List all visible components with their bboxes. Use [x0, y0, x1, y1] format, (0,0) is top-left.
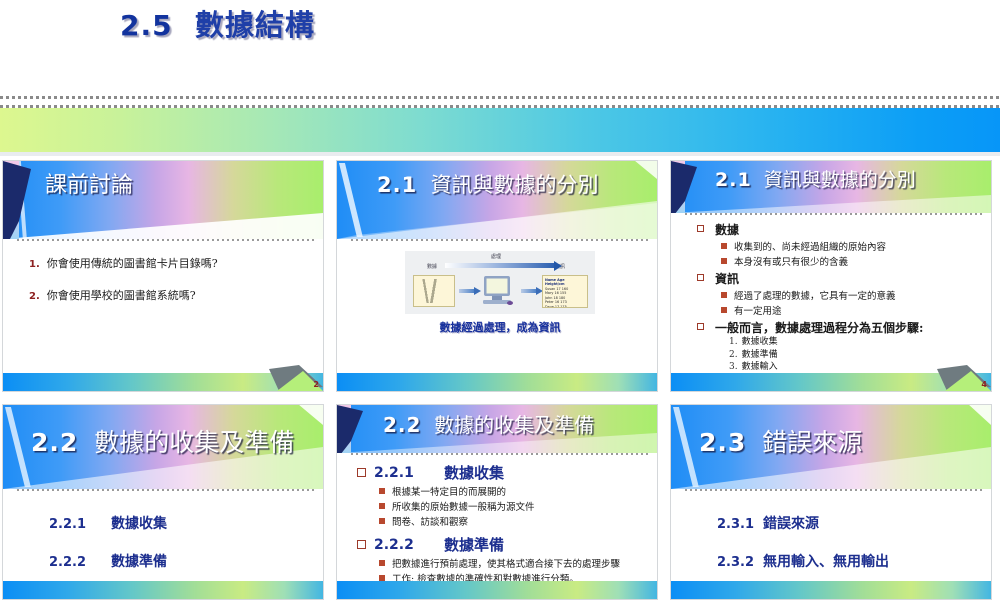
- slide-grid: 課前討論 1.你會使用傳統的圖書館卡片目錄嗎? 2.你會使用學校的圖書館系統嗎?: [0, 160, 1000, 600]
- slide-6-title-text: 錯誤來源: [762, 428, 862, 457]
- slide-thumbnail-1[interactable]: 課前討論 1.你會使用傳統的圖書館卡片目錄嗎? 2.你會使用學校的圖書館系統嗎?: [2, 160, 324, 392]
- slide-3-title-number: 2.1: [715, 169, 752, 191]
- outline-level1-item: 一般而言，數據處理過程分為五個步驟:: [697, 319, 983, 336]
- section-label: 數據收集: [444, 462, 504, 483]
- slide-4-title: 2.2 數據的收集及準備: [31, 423, 294, 459]
- slide-5-body: 2.2.1 數據收集 根據某一特定目的而展開的 所收集的原始數據一般稱为源文件 …: [337, 453, 657, 581]
- list-item: 2.你會使用學校的圖書館系統嗎?: [29, 287, 315, 303]
- discussion-question-list: 1.你會使用傳統的圖書館卡片目錄嗎? 2.你會使用學校的圖書館系統嗎?: [29, 255, 315, 303]
- diagram-result-table: Name Age Height/cm Susan 17 160 Mary 16 …: [542, 275, 588, 308]
- outline-level2-label: 本身沒有或只有很少的含義: [734, 254, 848, 268]
- slide-3-title-text: 資訊與數據的分別: [764, 169, 916, 191]
- slide-6-title-number: 2.3: [699, 428, 746, 457]
- steps-heading-label: 一般而言，數據處理過程分為五個步驟:: [715, 319, 923, 336]
- square-filled-bullet-icon: [721, 292, 727, 298]
- slide-5-title: 2.2 數據的收集及準備: [383, 409, 594, 438]
- slide-3-title: 2.1 資訊與數據的分別: [715, 165, 916, 192]
- outline-level2-item: 經過了處理的數據，它具有一定的意義: [721, 288, 983, 302]
- slide-4-body: 2.2.1 數據收集 2.2.2 數據準備: [3, 489, 323, 581]
- slide-6-header: 2.3 錯誤來源: [671, 405, 991, 489]
- square-outline-bullet-icon: [697, 225, 704, 232]
- square-filled-bullet-icon: [379, 503, 385, 509]
- step-label: 數據輸入: [742, 362, 778, 372]
- section-label: 錯誤來源: [763, 513, 819, 533]
- slide-5-header: 2.2 數據的收集及準備: [337, 405, 657, 453]
- step-marker: 3.: [729, 362, 738, 372]
- square-filled-bullet-icon: [379, 518, 385, 524]
- numbered-step: 1.數據收集: [729, 336, 983, 349]
- corner-triangle-icon: [671, 161, 697, 213]
- slide-overview-page: 2.5 數據結構 課前討論: [0, 0, 1000, 600]
- slide-2-divider: [351, 239, 651, 241]
- square-outline-bullet-icon: [697, 323, 704, 330]
- outline-level2-item: 問卷、訪談和觀察: [379, 514, 649, 528]
- section-row: 2.3.1 錯誤來源: [717, 513, 983, 533]
- section-number: 2.2.1: [374, 465, 444, 481]
- step-marker: 2.: [729, 350, 738, 360]
- slide-3-page-number: 4: [981, 379, 987, 391]
- diagram-arrow-out-icon: [521, 289, 537, 293]
- slide-5-footer: [337, 581, 657, 599]
- slide-3-divider: [685, 213, 985, 215]
- section-label: 數據收集: [111, 513, 167, 533]
- square-filled-bullet-icon: [721, 258, 727, 264]
- page-title-number: 2.5: [120, 9, 173, 42]
- diagram-caption: 數據經過處理，成為資訊: [405, 319, 595, 335]
- list-item-marker: 1.: [29, 259, 40, 270]
- slide-6-body: 2.3.1 錯誤來源 2.3.2 無用輸入、無用輸出: [671, 489, 991, 581]
- section-number: 2.3.2: [717, 555, 763, 570]
- scribble-marks: [417, 279, 451, 303]
- corner-triangle-icon: [3, 161, 31, 239]
- diagram-arrow-in-icon: [459, 289, 475, 293]
- square-filled-bullet-icon: [379, 488, 385, 494]
- slide-1-body: 1.你會使用傳統的圖書館卡片目錄嗎? 2.你會使用學校的圖書館系統嗎?: [3, 239, 323, 373]
- outline-level2-item: 把數據進行預前處理，使其格式適合接下去的處理步驟: [379, 556, 649, 570]
- section-label: 無用輸入、無用輸出: [763, 551, 889, 571]
- square-filled-bullet-icon: [379, 560, 385, 566]
- slide-4-header: 2.2 數據的收集及準備: [3, 405, 323, 489]
- slide-1-title: 課前討論: [45, 167, 133, 199]
- list-item-label: 你會使用學校的圖書館系統嗎?: [47, 289, 196, 302]
- square-filled-bullet-icon: [721, 307, 727, 313]
- outline-level2-label: 收集到的、尚未經過組織的原始內容: [734, 239, 886, 253]
- section-heading-row: 2.2.1 數據收集: [357, 462, 649, 483]
- list-item: 1.你會使用傳統的圖書館卡片目錄嗎?: [29, 255, 315, 271]
- outline-level2-label: 把數據進行預前處理，使其格式適合接下去的處理步驟: [392, 556, 620, 570]
- slide-thumbnail-2[interactable]: 2.1 資訊與數據的分別 數據 處理 資訊: [336, 160, 658, 392]
- outline-level2-item: 所收集的原始數據一般稱为源文件: [379, 499, 649, 513]
- slide-3-body: 數據 收集到的、尚未經過組織的原始內容 本身沒有或只有很少的含義 資訊 經過了處…: [671, 213, 991, 373]
- square-outline-bullet-icon: [357, 468, 366, 477]
- slide-5-title-text: 數據的收集及準備: [434, 413, 594, 437]
- slide-thumbnail-4[interactable]: 2.2 數據的收集及準備 2.2.1 數據收集 2.2.2 數據準備: [2, 404, 324, 600]
- band-base-strip: [0, 152, 1000, 156]
- slide-6-divider: [685, 489, 985, 491]
- square-outline-bullet-icon: [357, 540, 366, 549]
- outline-level1-label: 資訊: [715, 270, 739, 287]
- slide-1-header: 課前討論: [3, 161, 323, 239]
- slide-4-title-number: 2.2: [31, 428, 78, 457]
- slide-5-title-number: 2.2: [383, 413, 421, 437]
- outline-level2-label: 所收集的原始數據一般稱为源文件: [392, 499, 535, 513]
- outline-level2-item: 根據某一特定目的而展開的: [379, 484, 649, 498]
- outline-level1-label: 數據: [715, 221, 739, 238]
- diagram-process-arrow-icon: [445, 263, 555, 268]
- slide-4-footer: [3, 581, 323, 599]
- page-title: 2.5 數據結構: [120, 2, 315, 44]
- outline-level2-item: 本身沒有或只有很少的含義: [721, 254, 983, 268]
- slide-3-header: 2.1 資訊與數據的分別: [671, 161, 991, 213]
- outline-level2-label: 根據某一特定目的而展開的: [392, 484, 506, 498]
- corner-triangle-icon: [337, 405, 363, 453]
- band-dotted-border-top: [0, 96, 1000, 99]
- outline-level2-item: 有一定用途: [721, 303, 983, 317]
- section-label: 數據準備: [111, 551, 167, 571]
- section-row: 2.2.2 數據準備: [49, 551, 315, 571]
- slide-1-divider: [17, 239, 317, 241]
- slide-thumbnail-3[interactable]: 2.1 資訊與數據的分別 數據 收集到的、尚未經過組織的原始內容 本身沒有或只有…: [670, 160, 992, 392]
- table-header-row: Name Age Height/cm: [545, 278, 565, 287]
- slide-2-title-text: 資訊與數據的分別: [431, 173, 599, 197]
- list-item-label: 你會使用傳統的圖書館卡片目錄嗎?: [47, 257, 218, 270]
- outline-level2-label: 經過了處理的數據，它具有一定的意義: [734, 288, 896, 302]
- square-outline-bullet-icon: [697, 274, 704, 281]
- slide-thumbnail-5[interactable]: 2.2 數據的收集及準備 2.2.1 數據收集 根據某一特定目的而展開的 所收集…: [336, 404, 658, 600]
- slide-6-title: 2.3 錯誤來源: [699, 423, 862, 459]
- page-title-text: 數據結構: [195, 8, 315, 42]
- diagram-canvas: 數據 處理 資訊: [405, 251, 595, 314]
- slide-4-divider: [17, 489, 317, 491]
- slide-4-title-text: 數據的收集及準備: [94, 428, 294, 457]
- diagram-label-process: 處理: [491, 253, 501, 260]
- slide-6-footer: [671, 581, 991, 599]
- diagram-label-input: 數據: [427, 263, 437, 270]
- slide-thumbnail-6[interactable]: 2.3 錯誤來源 2.3.1 錯誤來源 2.3.2 無用輸入、無用輸出: [670, 404, 992, 600]
- outline-level1-item: 資訊: [697, 270, 983, 287]
- band-gradient-fill: [0, 108, 1000, 152]
- section-number: 2.2.1: [49, 517, 111, 532]
- square-filled-bullet-icon: [721, 243, 727, 249]
- step-marker: 1.: [729, 337, 738, 347]
- outline-level1-item: 數據: [697, 221, 983, 238]
- section-number: 2.2.2: [49, 555, 111, 570]
- slide-2-body: 數據 處理 資訊: [337, 239, 657, 373]
- outline-level2-label: 有一定用途: [734, 303, 782, 317]
- outline-level2-item: 收集到的、尚未經過組織的原始內容: [721, 239, 983, 253]
- slide-2-header: 2.1 資訊與數據的分別: [337, 161, 657, 239]
- slide-2-footer: [337, 373, 657, 391]
- outline-level2-label: 問卷、訪談和觀察: [392, 514, 468, 528]
- section-number: 2.2.2: [374, 537, 444, 553]
- slide-2-title: 2.1 資訊與數據的分別: [377, 169, 599, 199]
- table-row: Dave 17 175: [545, 305, 585, 308]
- gradient-band: [0, 96, 1000, 156]
- section-label: 數據準備: [444, 534, 504, 555]
- numbered-step: 2.數據準備: [729, 349, 983, 362]
- slide-2-title-number: 2.1: [377, 173, 417, 197]
- diagram-raw-data-note: [413, 275, 455, 307]
- step-label: 數據收集: [742, 337, 778, 347]
- slide-1-page-number: 2: [313, 379, 319, 391]
- section-heading-row: 2.2.2 數據準備: [357, 534, 649, 555]
- data-processing-diagram: 數據 處理 資訊: [405, 251, 595, 335]
- computer-icon: [481, 275, 513, 307]
- section-row: 2.3.2 無用輸入、無用輸出: [717, 551, 983, 571]
- section-number: 2.3.1: [717, 517, 763, 532]
- slide-5-divider: [351, 453, 651, 455]
- list-item-marker: 2.: [29, 291, 40, 302]
- step-label: 數據準備: [742, 350, 778, 360]
- section-row: 2.2.1 數據收集: [49, 513, 315, 533]
